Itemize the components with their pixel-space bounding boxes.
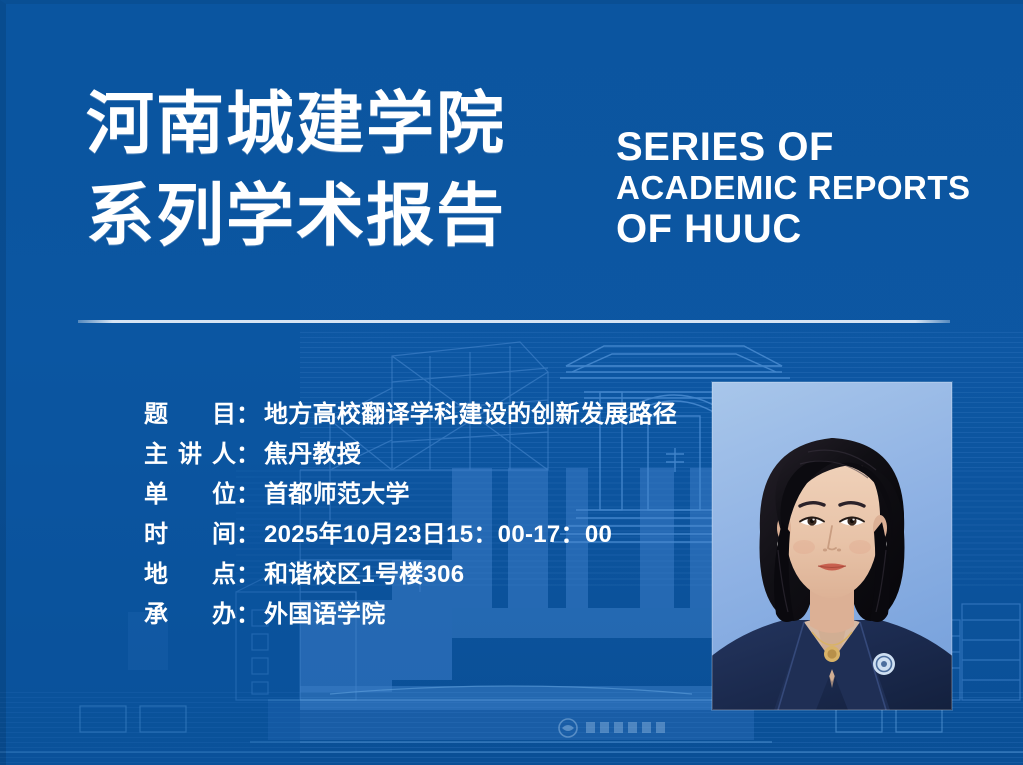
detail-row-organizer: 承办 ： 外国语学院 xyxy=(144,594,677,634)
detail-label-time: 时间 xyxy=(144,514,236,549)
detail-row-location: 地点 ： 和谐校区1号楼306 xyxy=(144,554,677,594)
detail-row-speaker: 主讲人 ： 焦丹教授 xyxy=(144,434,677,474)
english-title-line-2: ACADEMIC REPORTS xyxy=(616,170,971,207)
poster-canvas: 河南城建学院 系列学术报告 SERIES OF ACADEMIC REPORTS… xyxy=(0,0,1023,765)
english-title-line-3: OF HUUC xyxy=(616,207,971,252)
detail-value-speaker: 焦丹教授 xyxy=(264,434,361,469)
detail-label-organizer: 承办 xyxy=(144,594,236,629)
detail-label-affiliation: 单位 xyxy=(144,474,236,509)
detail-value-organizer: 外国语学院 xyxy=(264,594,386,629)
header-divider-line xyxy=(78,320,950,323)
chinese-title-line-1: 河南城建学院 xyxy=(86,78,506,170)
chinese-title: 河南城建学院 系列学术报告 xyxy=(86,78,506,262)
event-details-list: 题目 ： 地方高校翻译学科建设的创新发展路径 主讲人 ： 焦丹教授 单位 ： 首… xyxy=(144,394,677,634)
detail-colon-speaker: ： xyxy=(236,434,260,469)
bg-school-watermark xyxy=(559,719,665,737)
speaker-portrait-photo xyxy=(712,382,952,710)
detail-colon-affiliation: ： xyxy=(236,474,260,509)
english-title: SERIES OF ACADEMIC REPORTS OF HUUC xyxy=(616,125,971,252)
portrait-illustration xyxy=(712,382,952,710)
detail-colon-topic: ： xyxy=(236,394,260,429)
detail-value-location: 和谐校区1号楼306 xyxy=(264,554,464,589)
detail-row-time: 时间 ： 2025年10月23日15：00-17：00 xyxy=(144,514,677,554)
detail-colon-time: ： xyxy=(236,514,260,549)
detail-colon-location: ： xyxy=(236,554,260,589)
detail-label-location: 地点 xyxy=(144,554,236,589)
poster-header: 河南城建学院 系列学术报告 SERIES OF ACADEMIC REPORTS… xyxy=(0,0,1023,300)
detail-row-affiliation: 单位 ： 首都师范大学 xyxy=(144,474,677,514)
detail-value-time: 2025年10月23日15：00-17：00 xyxy=(264,514,612,549)
english-title-line-1: SERIES OF xyxy=(616,125,971,170)
detail-label-speaker: 主讲人 xyxy=(144,434,236,469)
detail-colon-organizer: ： xyxy=(236,594,260,629)
detail-row-topic: 题目 ： 地方高校翻译学科建设的创新发展路径 xyxy=(144,394,677,434)
detail-value-topic: 地方高校翻译学科建设的创新发展路径 xyxy=(264,394,677,429)
detail-value-affiliation: 首都师范大学 xyxy=(264,474,410,509)
chinese-title-line-2: 系列学术报告 xyxy=(86,170,506,262)
detail-label-topic: 题目 xyxy=(144,394,236,429)
